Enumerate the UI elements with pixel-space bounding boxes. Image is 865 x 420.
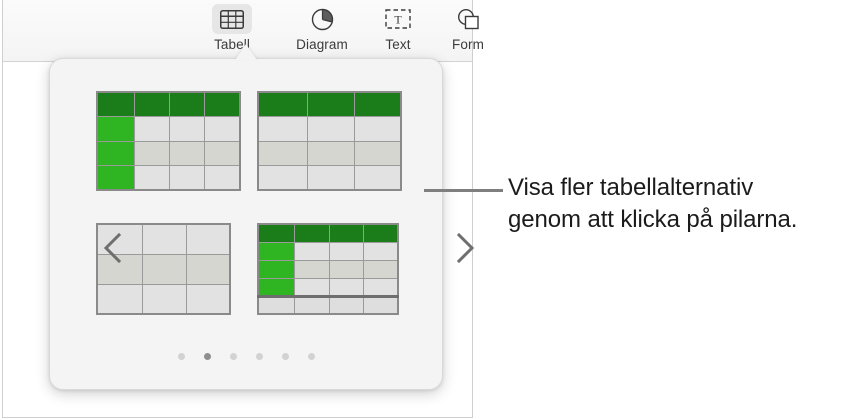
page-dot[interactable]	[282, 353, 289, 360]
callout-text-line-2: genom att klicka på pilarna.	[508, 204, 858, 236]
svg-text:T: T	[394, 13, 402, 27]
toolbar-item-tabell[interactable]: Tabell	[195, 4, 269, 60]
page-dot[interactable]	[230, 353, 237, 360]
toolbar-label-form: Form	[452, 37, 484, 52]
popover-pointer	[235, 44, 257, 60]
page-indicator-dots[interactable]	[50, 353, 442, 360]
page-dot[interactable]	[204, 353, 211, 360]
chevron-right-icon[interactable]	[452, 231, 478, 265]
application-window: Tabell Diagram T Text	[2, 0, 473, 418]
toolbar-item-form[interactable]: Form	[431, 4, 505, 60]
toolbar-label-text: Text	[385, 37, 410, 52]
text-box-icon: T	[378, 4, 418, 34]
toolbar-item-diagram[interactable]: Diagram	[285, 4, 359, 60]
chart-pie-icon	[302, 4, 342, 34]
table-style-grid	[96, 91, 402, 331]
page-dot[interactable]	[256, 353, 263, 360]
chevron-left-icon[interactable]	[100, 231, 126, 265]
table-style-popover	[49, 58, 443, 390]
table-style-option[interactable]	[257, 223, 402, 323]
callout-text-line-1: Visa fler tabellalternativ	[508, 172, 858, 204]
toolbar-item-text[interactable]: T Text	[361, 4, 435, 60]
table-style-option[interactable]	[257, 91, 402, 191]
page-dot[interactable]	[308, 353, 315, 360]
page-dot[interactable]	[178, 353, 185, 360]
shapes-icon	[448, 4, 488, 34]
callout-leader-line	[424, 189, 503, 192]
toolbar-label-diagram: Diagram	[296, 37, 348, 52]
table-icon	[212, 4, 252, 34]
table-style-option[interactable]	[96, 91, 241, 191]
callout-text: Visa fler tabellalternativ genom att kli…	[508, 172, 858, 236]
